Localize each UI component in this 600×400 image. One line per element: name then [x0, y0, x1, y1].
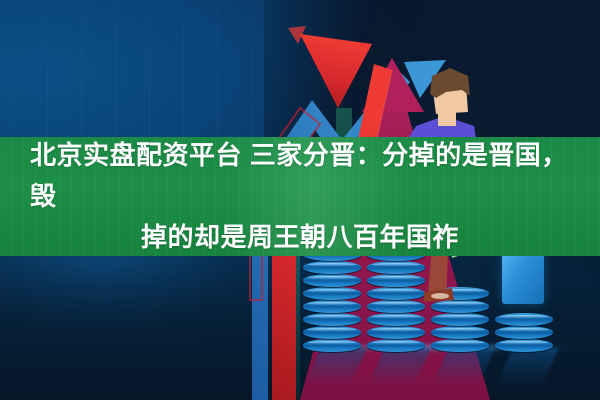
cover-image: 北京实盘配资平台 三家分晋：分掉的是晋国，毁 掉的却是周王朝八百年国祚 [0, 0, 600, 400]
title-line-1: 北京实盘配资平台 三家分晋：分掉的是晋国，毁 [20, 137, 580, 217]
title-banner: 北京实盘配资平台 三家分晋：分掉的是晋国，毁 掉的却是周王朝八百年国祚 [0, 137, 600, 256]
page-title: 北京实盘配资平台 三家分晋：分掉的是晋国，毁 掉的却是周王朝八百年国祚 [20, 137, 580, 256]
person-shoe-highlight [431, 293, 449, 299]
title-line-2: 掉的却是周王朝八百年国祚 [20, 217, 580, 256]
